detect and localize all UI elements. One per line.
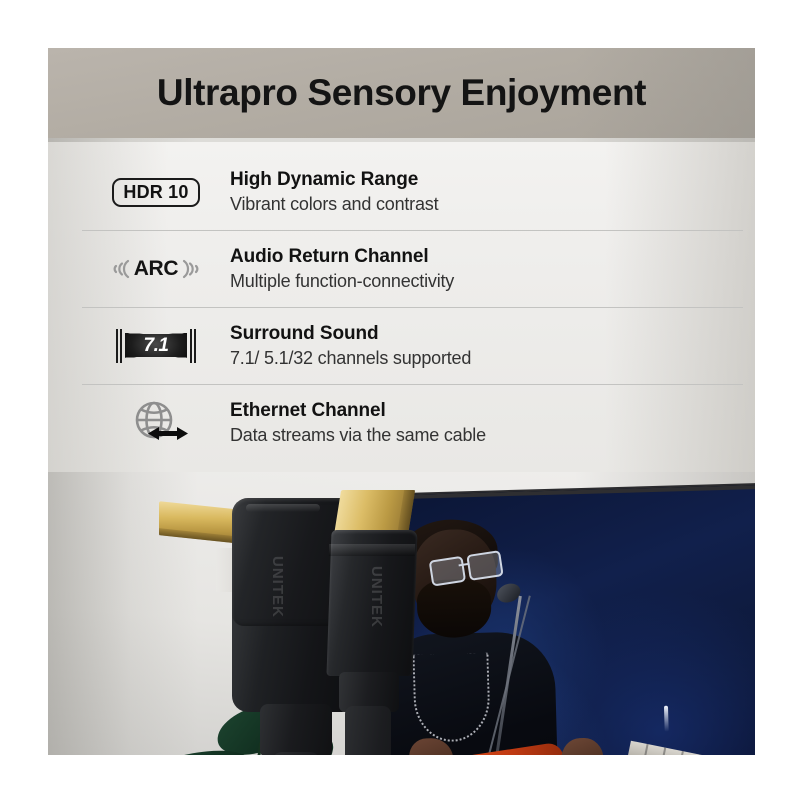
brand-logo-unitek: UNITEK: [269, 556, 286, 618]
television: [366, 485, 755, 755]
page-title: Ultrapro Sensory Enjoyment: [48, 72, 755, 114]
feature-title: High Dynamic Range: [230, 168, 743, 192]
cable-jacket: [272, 752, 320, 755]
feature-text-block: Audio Return Channel Multiple function-c…: [230, 245, 743, 293]
glasses-lens-left: [429, 556, 467, 587]
brand-logo-unitek: UNITEK: [368, 566, 385, 628]
ribbon-bars-right: [190, 329, 196, 363]
arc-label: ARC: [134, 257, 179, 281]
hdr10-badge-icon: HDR 10: [82, 178, 230, 207]
glasses-lens-right: [466, 550, 504, 581]
cable-jacket: [345, 706, 391, 755]
ribbon-plate: 7.1: [125, 326, 187, 366]
feature-row-surround-sound: 7.1 Surround Sound 7.1/ 5.1/32 channels …: [82, 307, 743, 384]
feature-text-block: Ethernet Channel Data streams via the sa…: [230, 399, 743, 447]
tv-screen: [366, 485, 755, 755]
feature-row-hdr10: HDR 10 High Dynamic Range Vibrant colors…: [82, 154, 743, 230]
feature-subtitle: Vibrant colors and contrast: [230, 193, 743, 216]
bidirectional-arrow-icon: [148, 423, 188, 445]
feature-subtitle: 7.1/ 5.1/32 channels supported: [230, 347, 743, 370]
feature-title: Ethernet Channel: [230, 399, 743, 423]
feature-row-arc: ARC Audio Return Channel Multiple functi…: [82, 230, 743, 307]
feature-subtitle: Multiple function-connectivity: [230, 270, 743, 293]
feature-text-block: High Dynamic Range Vibrant colors and co…: [230, 168, 743, 216]
connector-collar: [329, 544, 415, 556]
hdr10-badge-label: HDR 10: [112, 178, 199, 207]
ribbon-bars-left: [116, 329, 122, 363]
surround-sound-ribbon-icon: 7.1: [82, 326, 230, 366]
feature-title: Audio Return Channel: [230, 245, 743, 269]
connector-highlight: [246, 504, 320, 512]
stage-light-beam: [664, 706, 669, 732]
feature-row-ethernet: Ethernet Channel Data streams via the sa…: [82, 384, 743, 461]
feature-list: HDR 10 High Dynamic Range Vibrant colors…: [82, 154, 743, 461]
feature-title: Surround Sound: [230, 322, 743, 346]
ribbon-icon-group: 7.1: [116, 326, 196, 366]
arc-audio-icon: ARC: [82, 254, 230, 284]
sound-wave-left-icon: [109, 254, 131, 284]
surround-sound-label: 7.1: [144, 335, 169, 357]
guitar-neck: [625, 741, 755, 755]
arc-icon-group: ARC: [109, 254, 204, 284]
product-feature-card: UNITEK UNITEK Ultrapro Sensory Enjoyment…: [48, 48, 755, 755]
globe-icon-group: [130, 397, 182, 449]
feature-text-block: Surround Sound 7.1/ 5.1/32 channels supp…: [230, 322, 743, 370]
feature-subtitle: Data streams via the same cable: [230, 424, 743, 447]
sound-wave-right-icon: [181, 254, 203, 284]
globe-ethernet-icon: [82, 397, 230, 449]
cable-strain-relief: [260, 704, 332, 755]
